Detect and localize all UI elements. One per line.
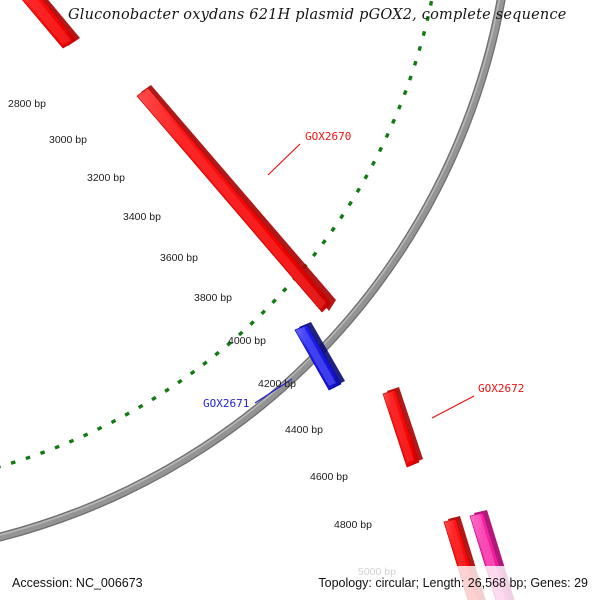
gene-label-GOX2672[interactable]: GOX2672 <box>478 382 524 395</box>
topology-summary-text: Topology: circular; Length: 26,568 bp; G… <box>318 576 588 590</box>
ruler-tick-label-2800: 2800 bp <box>8 98 46 110</box>
ruler-tick-label-4600: 4600 bp <box>310 471 348 483</box>
gene-label-GOX2671[interactable]: GOX2671 <box>203 397 249 410</box>
ruler-tick-label-3800: 3800 bp <box>194 292 232 304</box>
accession-text: Accession: NC_006673 <box>12 576 143 590</box>
gene-label-GOX2670[interactable]: GOX2670 <box>305 130 351 143</box>
ruler-tick-label-3400: 3400 bp <box>123 211 161 223</box>
leader-line-GOX2672 <box>432 396 474 418</box>
plasmid-backbone <box>0 0 512 558</box>
genome-map-canvas[interactable] <box>0 0 600 600</box>
ruler-tick-label-3600: 3600 bp <box>160 252 198 264</box>
ruler-tick-label-4200: 4200 bp <box>258 378 296 390</box>
ruler-tick-label-4400: 4400 bp <box>285 424 323 436</box>
ruler-tick-label-3200: 3200 bp <box>87 172 125 184</box>
page-title: Gluconobacter oxydans 621H plasmid pGOX2… <box>68 7 567 23</box>
ruler-tick-arc <box>0 0 444 490</box>
ruler-tick-label-4800: 4800 bp <box>334 519 372 531</box>
gene-arrow-GOX2670[interactable] <box>137 85 336 312</box>
gene-arrow-GOX2672[interactable] <box>383 387 423 467</box>
ruler-tick-label-3000: 3000 bp <box>49 134 87 146</box>
plasmid-map-viewer: Gluconobacter oxydans 621H plasmid pGOX2… <box>0 0 600 600</box>
leader-line-GOX2670 <box>268 144 300 175</box>
ruler-tick-label-4000: 4000 bp <box>228 335 266 347</box>
status-bar: Accession: NC_006673 Topology: circular;… <box>0 566 600 600</box>
